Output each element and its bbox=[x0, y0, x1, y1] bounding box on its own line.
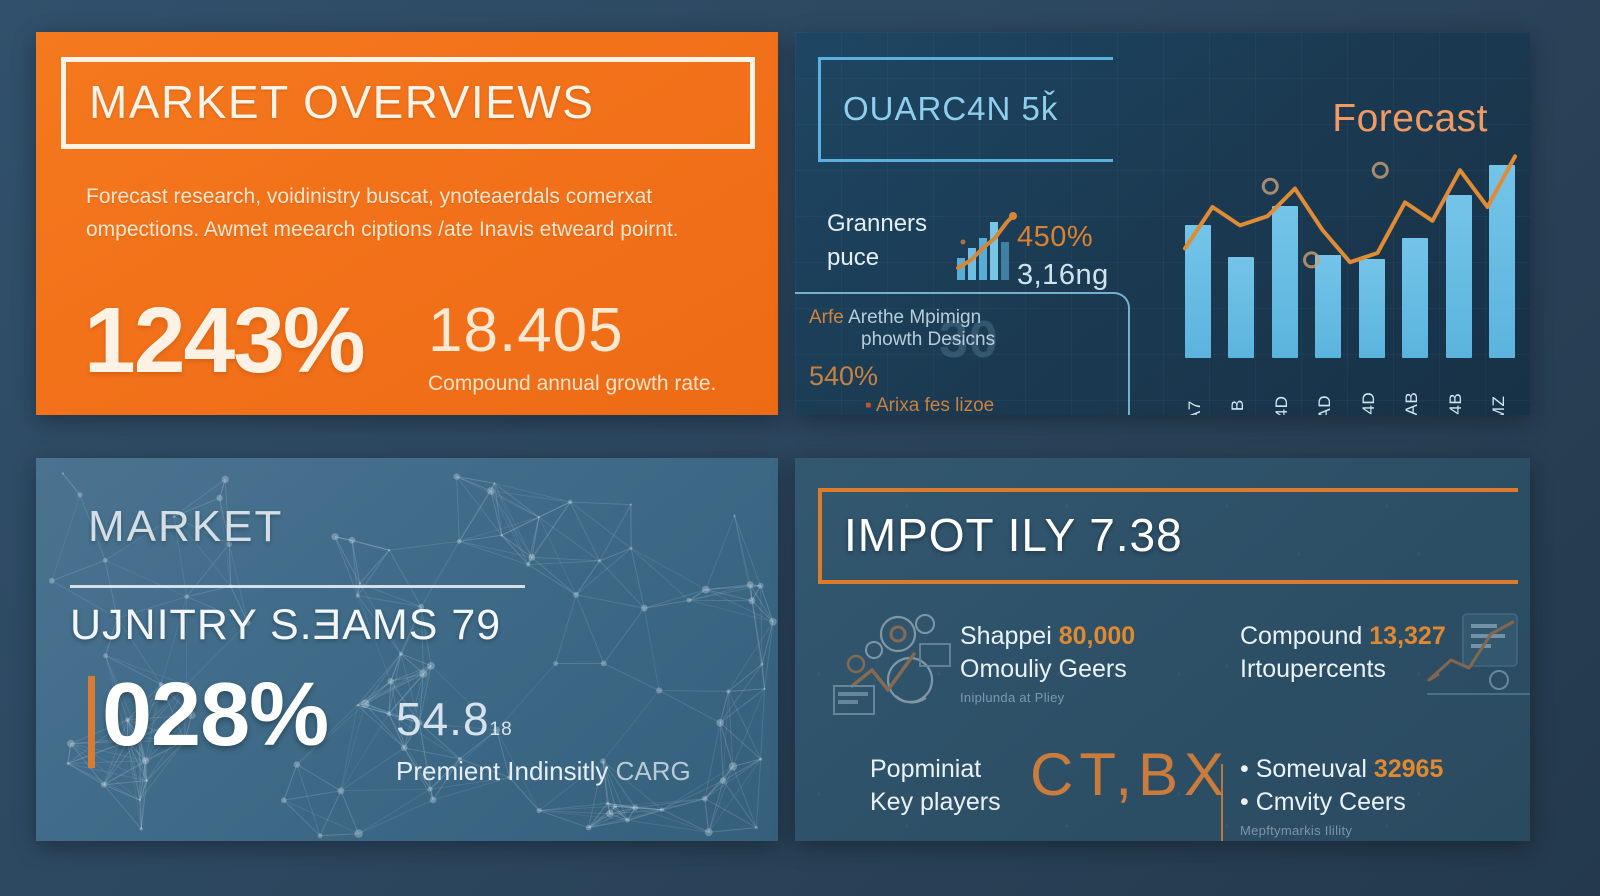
forecast-header-title: OUARC4N 5ǩ bbox=[843, 90, 1058, 128]
network-sub-stat-suffix: 18 bbox=[490, 719, 513, 740]
cell-d-line1: • Someuval 32965 bbox=[1240, 753, 1443, 786]
brand-mark-ctbx: CT,BX bbox=[1030, 740, 1230, 809]
chart-x-label: Cill B bbox=[1228, 362, 1254, 415]
chart-x-label: CM4D bbox=[1359, 362, 1385, 415]
chart-data-marker bbox=[1263, 179, 1277, 193]
cell-d-value: 32965 bbox=[1374, 755, 1444, 783]
forecast-header-frame: OUARC4N 5ǩ bbox=[818, 57, 1113, 162]
cell-a-line1: Shappei 80,000 bbox=[960, 620, 1135, 653]
stat-cell-shipped[interactable]: Shappei 80,000 Omouliy Geers Iniplunda a… bbox=[960, 620, 1135, 705]
impact-vertical-divider bbox=[1221, 764, 1223, 841]
chart-x-label: SPAD bbox=[1315, 362, 1341, 415]
chart-x-label: doA7 bbox=[1185, 362, 1211, 415]
forecast-kpi-label-line1: Granners bbox=[827, 207, 927, 241]
overview-sub-stat: 18.405 bbox=[428, 300, 624, 362]
overview-big-stat: 1243% bbox=[84, 294, 364, 387]
cell-a-micro: Iniplunda at Pliey bbox=[960, 690, 1135, 705]
cell-d-line2: • Cmvity Ceers bbox=[1240, 786, 1443, 819]
panel-impact-summary[interactable]: IMPOT ILY 7.38 Shappei bbox=[795, 458, 1530, 841]
stat-cell-key-players[interactable]: Popminiat Key players bbox=[870, 753, 1001, 819]
network-accent-bar bbox=[88, 676, 95, 768]
impact-header-frame: IMPOT ILY 7.38 bbox=[818, 488, 1518, 584]
impact-header-title: IMPOT ILY 7.38 bbox=[844, 508, 1183, 562]
cell-c-line2: Key players bbox=[870, 786, 1001, 819]
network-big-stat: 028% bbox=[102, 670, 328, 760]
network-sub-stat: 54.818 bbox=[396, 696, 513, 742]
network-title: MARKET bbox=[88, 502, 283, 552]
stat-cell-compound[interactable]: Compound 13,327 Irtoupercents bbox=[1240, 620, 1446, 686]
forecast-bar-chart[interactable] bbox=[1185, 128, 1515, 358]
cell-d-label: • Someuval bbox=[1240, 755, 1367, 783]
ghost-line3-text: Arixa fes lizoe bbox=[876, 395, 994, 415]
ghost-number: 540% bbox=[809, 362, 878, 390]
cell-b-line1: Compound 13,327 bbox=[1240, 620, 1446, 653]
forecast-kpi-label-line2: puce bbox=[827, 241, 927, 275]
overview-title-frame: MARKET OVERVIEWS bbox=[61, 57, 755, 149]
ghost-line1-prefix: Arfe bbox=[809, 307, 844, 328]
chart-x-label: ZeMZ bbox=[1489, 362, 1515, 415]
chart-trend-line bbox=[1185, 128, 1515, 358]
overview-lead-paragraph: Forecast research, voidinistry buscat, y… bbox=[86, 180, 762, 246]
chart-data-marker bbox=[1305, 253, 1319, 267]
analytics-chart-icon bbox=[1425, 608, 1530, 703]
forecast-kpi-value-secondary: 3,16ng bbox=[1017, 256, 1109, 294]
chart-x-axis-labels: doA7Cill BSB4DSPADCM4DQRABCM4BZeMZ bbox=[1185, 362, 1515, 415]
cell-a-line2: Omouliy Geers bbox=[960, 653, 1135, 686]
cell-a-label: Shappei bbox=[960, 622, 1052, 650]
network-sub-caption-text: Premient Indinsitly bbox=[396, 756, 608, 786]
cell-d-micro: Mepftymarkis Ilility bbox=[1240, 823, 1443, 838]
network-sub-caption-dim: CARG bbox=[616, 756, 691, 786]
network-sub-stat-value: 54.8 bbox=[396, 693, 490, 745]
forecast-kpi-values: 450% 3,16ng bbox=[1017, 218, 1109, 294]
ghost-bullet-icon: ▪ bbox=[865, 395, 872, 415]
chart-x-label: CM4B bbox=[1446, 362, 1472, 415]
cell-b-line2: Irtoupercents bbox=[1240, 653, 1446, 686]
forecast-kpi-label: Granners puce bbox=[827, 207, 927, 275]
forecast-ghost-block: Arfe Arethe Mpimign 30 phowth Desicns 54… bbox=[809, 304, 1129, 415]
overview-sub-caption: Compound annual growth rate. bbox=[428, 372, 716, 396]
stat-cell-someuval[interactable]: • Someuval 32965 • Cmvity Ceers Mepftyma… bbox=[1240, 753, 1443, 838]
cell-b-label: Compound bbox=[1240, 622, 1362, 650]
network-divider bbox=[70, 585, 525, 588]
cell-a-value: 80,000 bbox=[1059, 622, 1135, 650]
chart-data-marker bbox=[1373, 163, 1387, 177]
network-sub-caption: Premient Indinsitly CARG bbox=[396, 756, 691, 787]
network-subtitle: UJNITRY S.ƎAMS 79 bbox=[70, 601, 501, 650]
ghost-line3: ▪ Arixa fes lizoe bbox=[865, 392, 994, 415]
workflow-gear-icon bbox=[830, 608, 965, 718]
panel-market-overview[interactable]: MARKET OVERVIEWS Forecast research, void… bbox=[36, 32, 778, 415]
forecast-kpi-value-primary: 450% bbox=[1017, 218, 1109, 256]
chart-x-label: SB4D bbox=[1272, 362, 1298, 415]
panel-market-network[interactable]: MARKET UJNITRY S.ƎAMS 79 028% 54.818 Pre… bbox=[36, 458, 778, 841]
chart-x-label: QRAB bbox=[1402, 362, 1428, 415]
overview-title: MARKET OVERVIEWS bbox=[89, 75, 594, 129]
ghost-line2: phowth Desicns bbox=[861, 326, 995, 354]
impact-cell-grid: Shappei 80,000 Omouliy Geers Iniplunda a… bbox=[825, 608, 1510, 827]
dashboard-canvas: MARKET OVERVIEWS Forecast research, void… bbox=[0, 0, 1600, 896]
panel-quarterly-forecast[interactable]: OUARC4N 5ǩ Forecast Granners puce 450% 3… bbox=[795, 32, 1530, 415]
cell-c-line1: Popminiat bbox=[870, 753, 1001, 786]
